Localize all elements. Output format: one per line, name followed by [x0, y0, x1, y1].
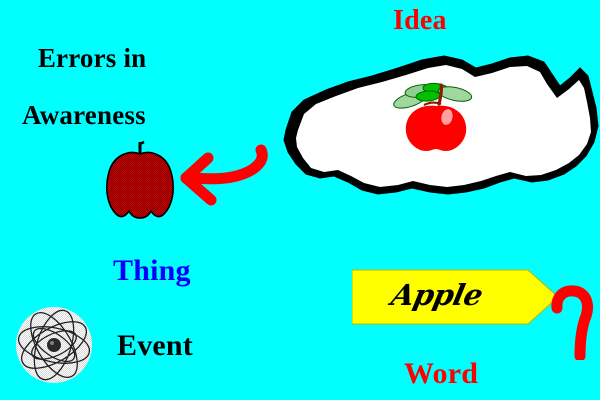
hook-arrow-icon: [548, 282, 600, 360]
label-idea: Idea: [393, 6, 447, 35]
atom-icon: [8, 298, 100, 390]
tag-icon: Apple: [352, 266, 560, 333]
title-line-2: Awareness: [10, 101, 146, 129]
diagram-canvas: Apple Errors in Awareness Idea Thing Eve…: [0, 0, 600, 400]
arrow-left-icon: [178, 140, 288, 230]
page-title: Errors in Awareness: [10, 16, 146, 186]
label-thing: Thing: [113, 255, 191, 287]
title-line-1: Errors in: [38, 43, 147, 73]
label-word: Word: [404, 358, 478, 390]
apple-icon: [384, 78, 488, 154]
label-event: Event: [117, 330, 193, 362]
word-tag-text: Apple: [388, 278, 485, 312]
